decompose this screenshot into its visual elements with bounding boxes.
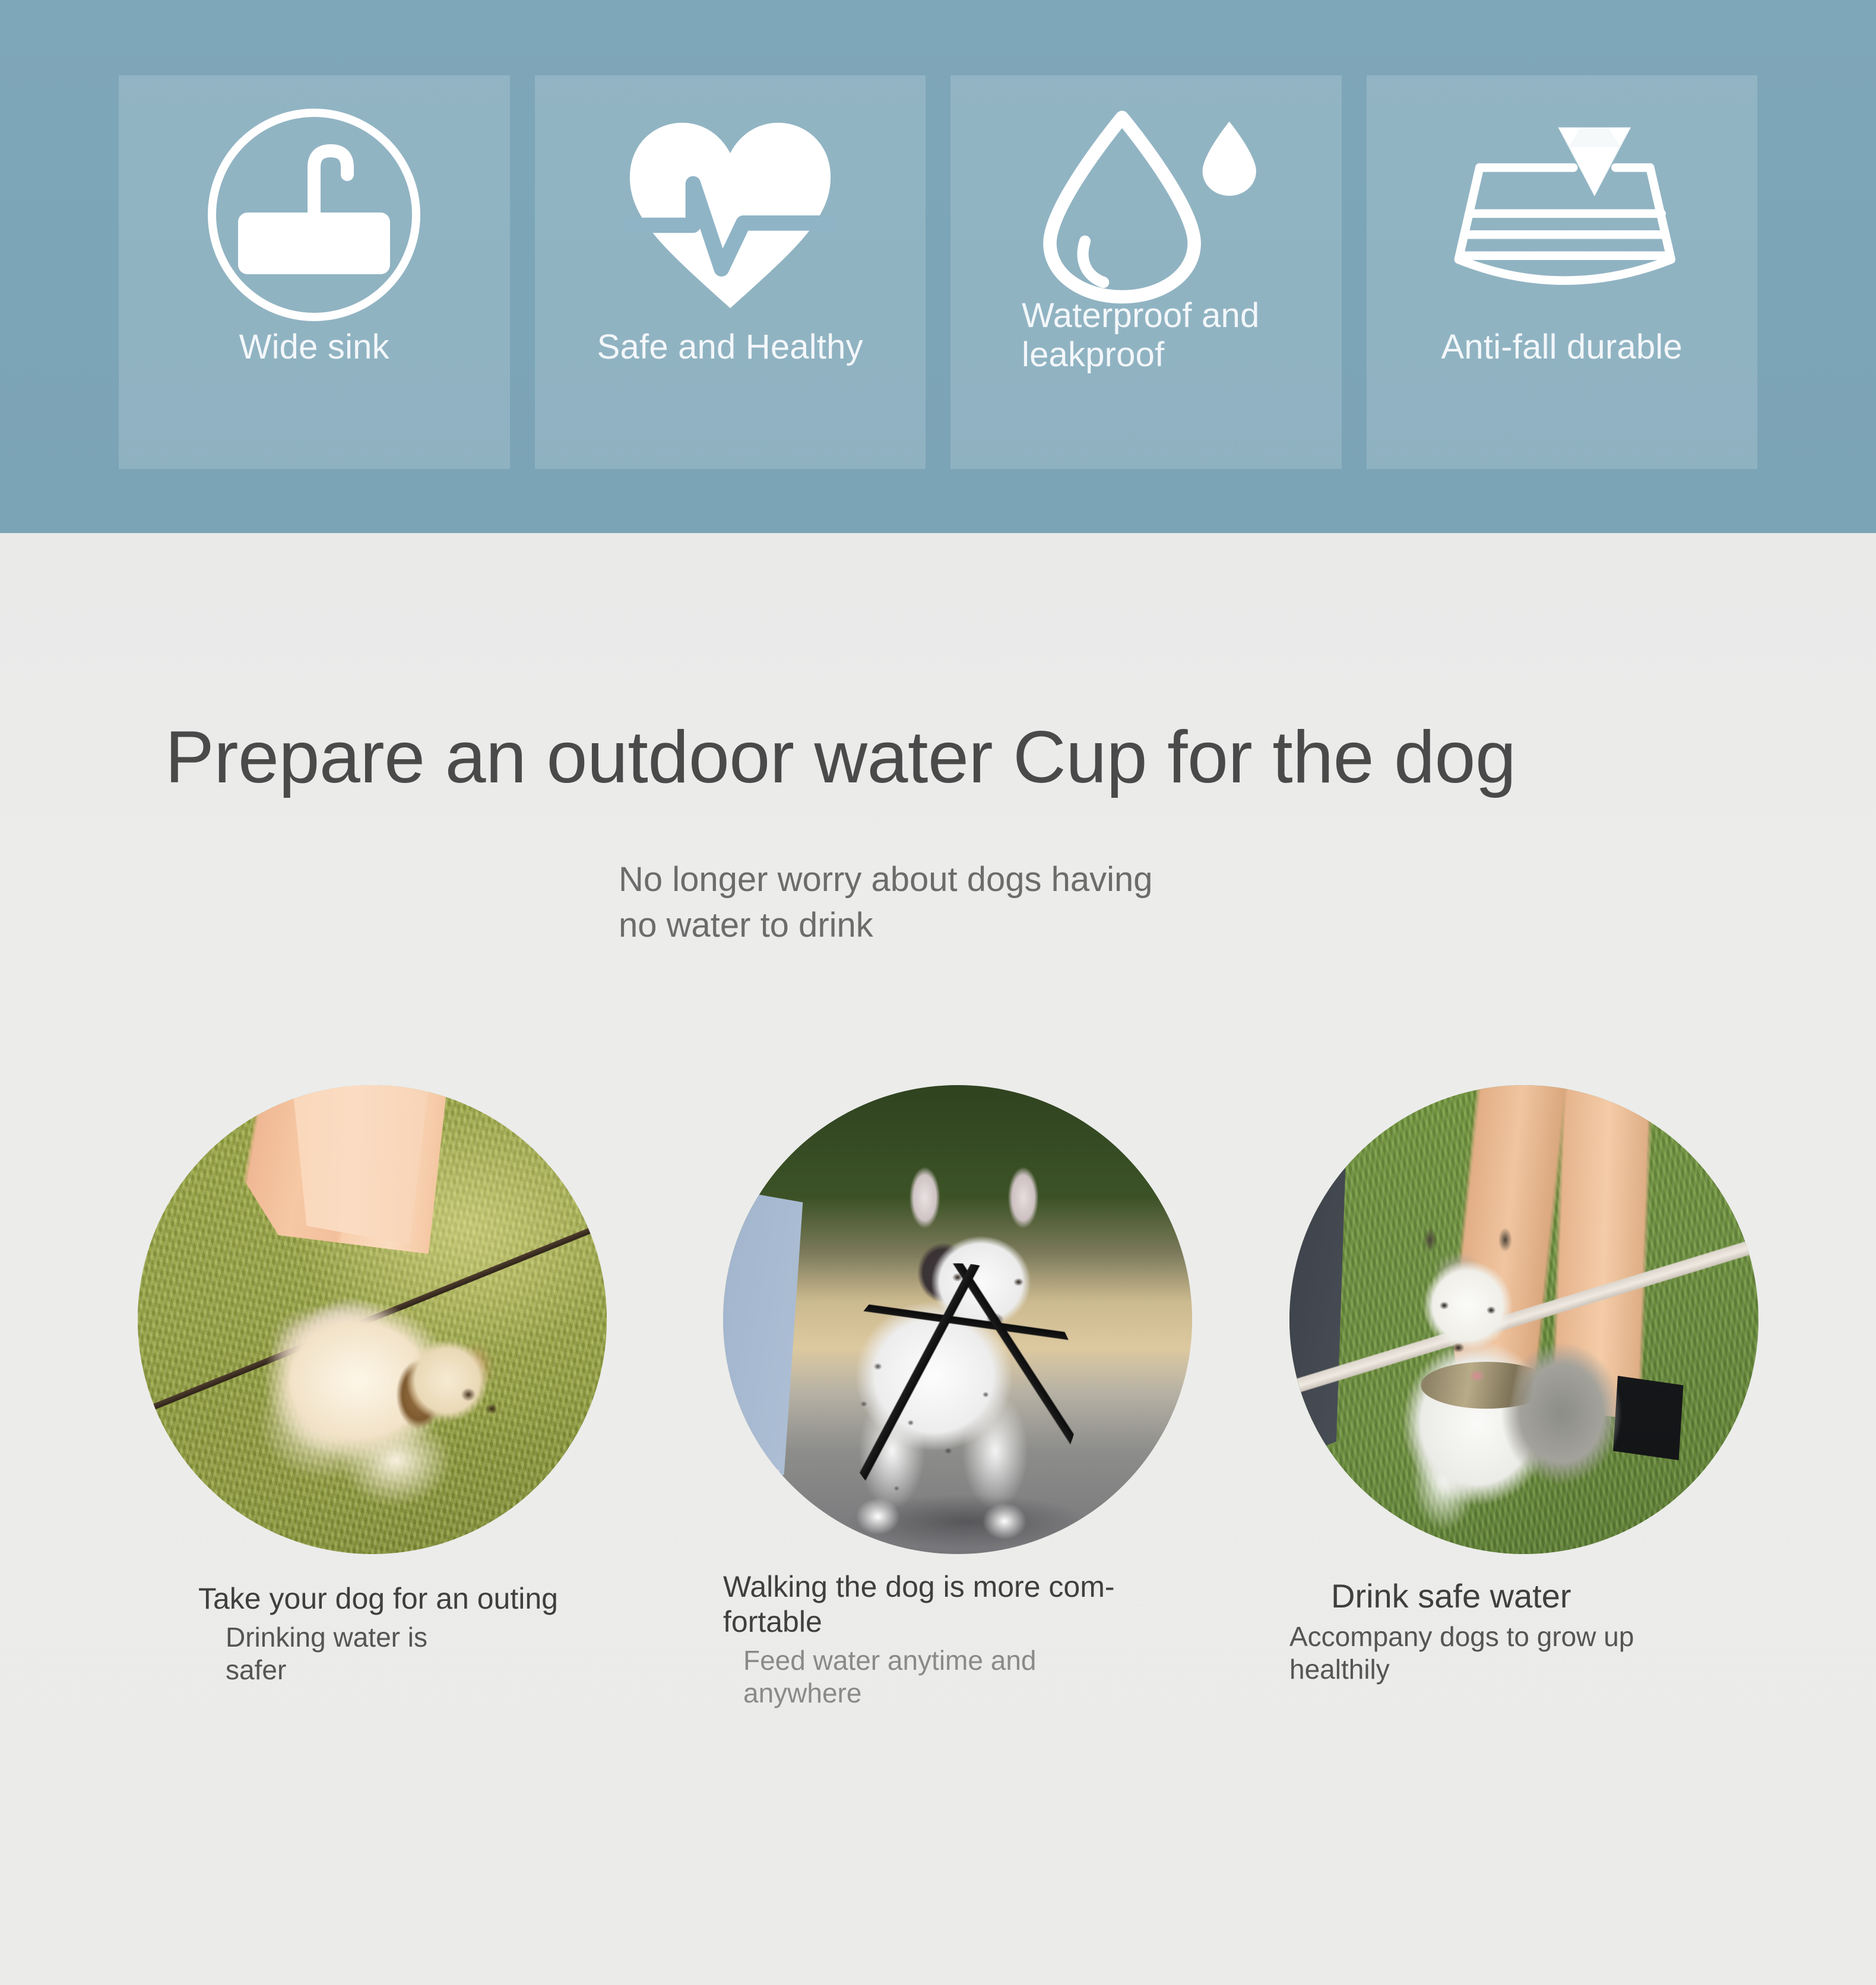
feature-tile-wide-sink[interactable]: Wide sink: [119, 75, 510, 469]
benefit-card-list: Take your dog for an outing Drinking wat…: [0, 533, 1876, 1985]
feature-tile-label: Wide sink: [119, 328, 510, 367]
feature-tile-label: Anti-fall durable: [1367, 328, 1758, 367]
sink-in-circle-icon: [119, 75, 510, 354]
card-caption: Take your dog for an outing Drinking wat…: [138, 1581, 630, 1686]
product-detail-page: Wide sink Safe and Healthy: [0, 0, 1876, 1985]
feature-tile-safe-and-healthy[interactable]: Safe and Healthy: [535, 75, 926, 469]
dog-photo-walking: [723, 1085, 1192, 1554]
feature-tile-label: Waterproof and leakproof: [950, 296, 1342, 374]
card-subtitle: Accompany dogs to grow up healthily: [1289, 1621, 1782, 1686]
feature-tile-anti-fall-durable[interactable]: Anti-fall durable: [1367, 75, 1758, 469]
feature-tile-waterproof-leakproof[interactable]: Waterproof and leakproof: [950, 75, 1342, 469]
card-subtitle: Feed water anytime and anywhere: [723, 1644, 1216, 1710]
card-subtitle: Drinking water is safer: [138, 1621, 630, 1686]
card-caption: Walking the dog is more com- fortable Fe…: [723, 1569, 1216, 1710]
dog-photo-outing: [138, 1085, 607, 1554]
heartbeat-heart-icon: [535, 75, 926, 354]
feature-tile-list: Wide sink Safe and Healthy: [119, 75, 1757, 469]
card-title: Walking the dog is more com- fortable: [723, 1569, 1216, 1640]
feature-tile-label: Safe and Healthy: [535, 328, 926, 367]
benefit-card[interactable]: Take your dog for an outing Drinking wat…: [138, 1085, 625, 1554]
water-drop-icon: [950, 75, 1342, 331]
feature-banner: Wide sink Safe and Healthy: [0, 0, 1876, 533]
card-title: Take your dog for an outing: [138, 1581, 630, 1616]
diamond-on-base-icon: [1367, 75, 1758, 331]
card-title: Drink safe water: [1289, 1577, 1782, 1616]
benefit-card[interactable]: Drink safe water Accompany dogs to grow …: [1289, 1085, 1776, 1554]
card-caption: Drink safe water Accompany dogs to grow …: [1289, 1577, 1782, 1686]
content-section: Prepare an outdoor water Cup for the dog…: [0, 533, 1876, 1985]
dog-photo-husky: [1289, 1085, 1758, 1554]
benefit-card[interactable]: Walking the dog is more com- fortable Fe…: [723, 1085, 1210, 1554]
